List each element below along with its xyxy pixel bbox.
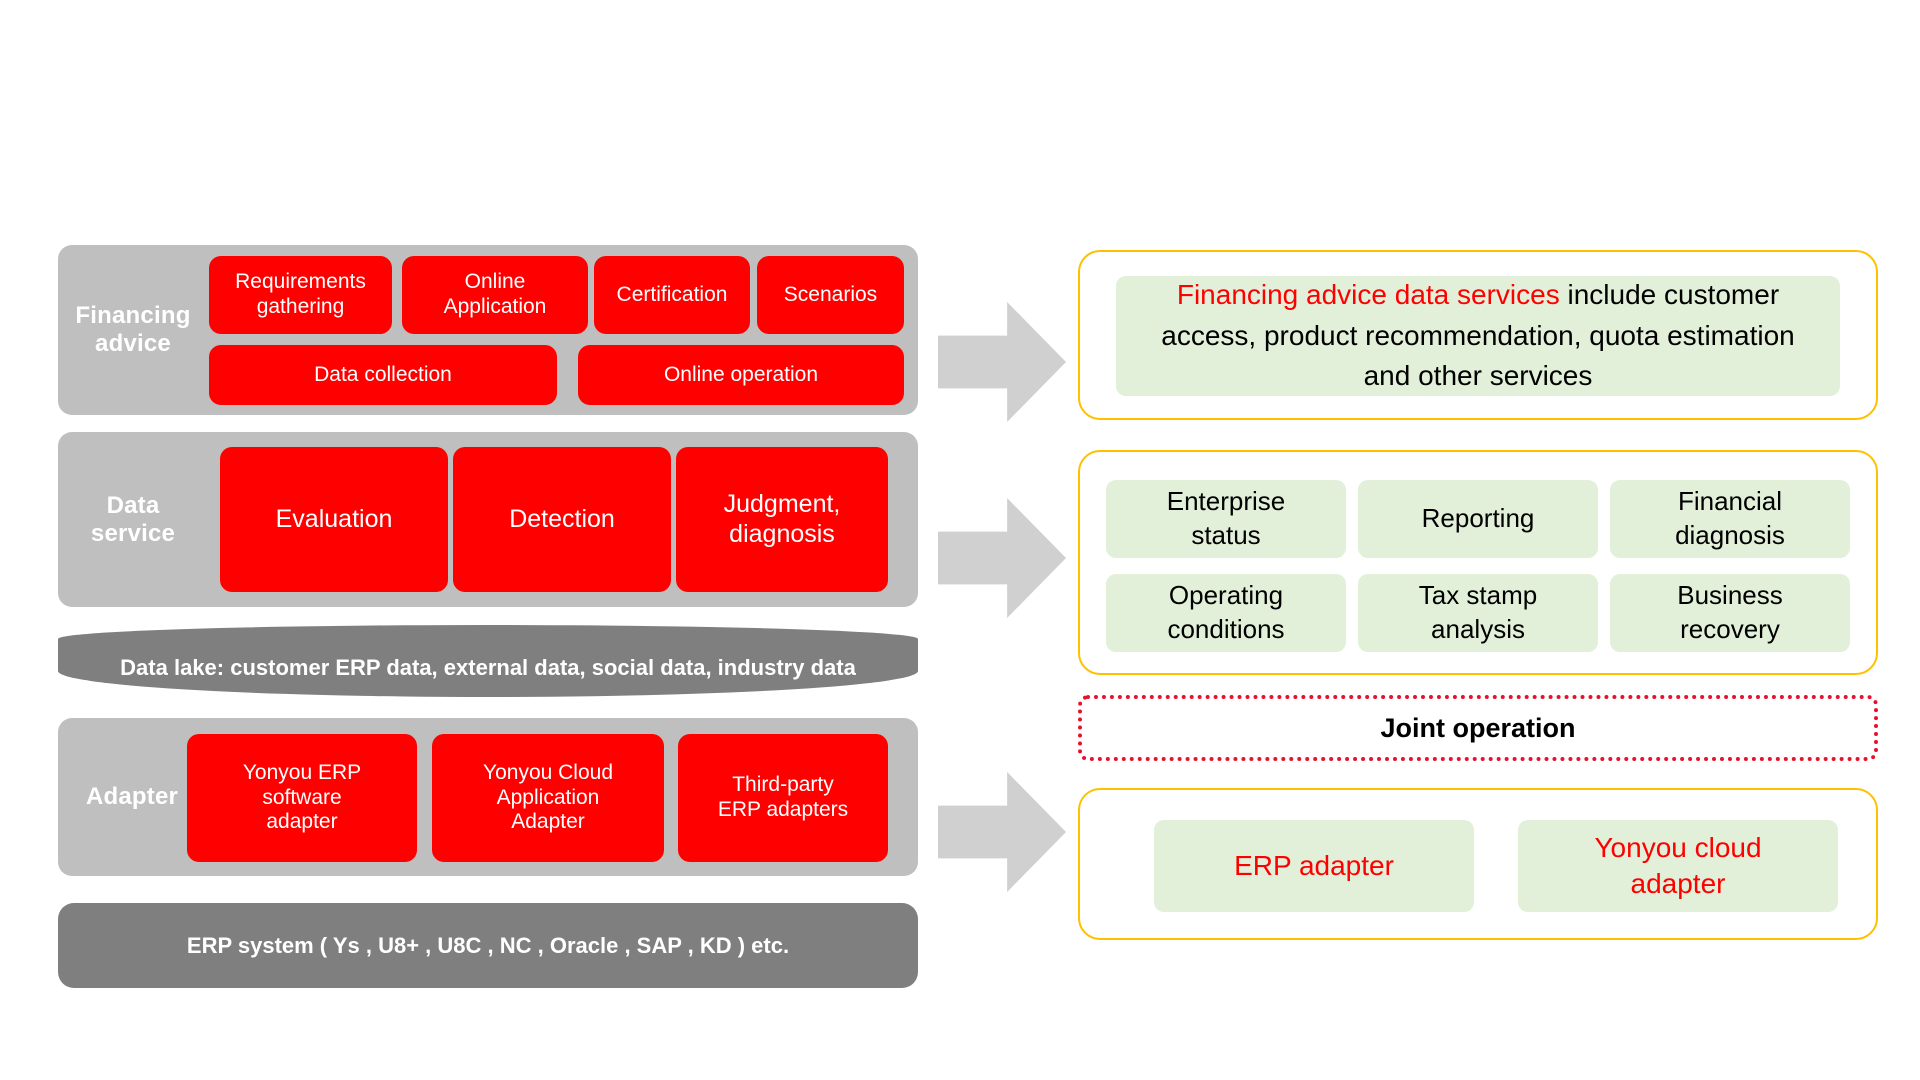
- chip-label-line1: Tax stamp: [1419, 579, 1538, 613]
- box-label-line2: gathering: [257, 295, 345, 320]
- arrow-right-data-service: [938, 498, 1066, 618]
- chip-reporting[interactable]: Reporting: [1358, 480, 1598, 558]
- data-lake-label: Data lake: customer ERP data, external d…: [58, 639, 918, 697]
- chip-label-line1: Business: [1677, 579, 1783, 613]
- box-online-application[interactable]: Online Application: [402, 256, 588, 334]
- box-label-line1: Requirements: [235, 270, 366, 295]
- chip-label-line2: status: [1191, 519, 1260, 553]
- box-label-line1: Yonyou Cloud: [483, 761, 613, 786]
- box-third-party-erp-adapters[interactable]: Third-party ERP adapters: [678, 734, 888, 862]
- box-label-line1: Yonyou ERP: [243, 761, 361, 786]
- row-label-line2: service: [91, 520, 175, 548]
- financing-advice-highlight: Financing advice data services: [1177, 279, 1560, 310]
- chip-label-line1: Financial: [1678, 485, 1782, 519]
- chip-label-line1: Yonyou cloud: [1594, 830, 1761, 866]
- chip-erp-adapter[interactable]: ERP adapter: [1154, 820, 1474, 912]
- row-label-line1: Adapter: [86, 783, 178, 811]
- box-label: Data collection: [314, 363, 452, 388]
- data-lake-shape: Data lake: customer ERP data, external d…: [58, 625, 918, 697]
- erp-system-label: ERP system ( Ys , U8+ , U8C , NC , Oracl…: [187, 933, 789, 959]
- box-yonyou-erp-software-adapter[interactable]: Yonyou ERP software adapter: [187, 734, 417, 862]
- chip-enterprise-status[interactable]: Enterprise status: [1106, 480, 1346, 558]
- chip-label-line1: Reporting: [1422, 502, 1535, 536]
- panel-joint-operation: Joint operation: [1078, 695, 1878, 761]
- chip-label-line1: Enterprise: [1167, 485, 1286, 519]
- arrow-right-financing: [938, 302, 1066, 422]
- box-label-line2: diagnosis: [729, 520, 835, 550]
- box-label-line1: Judgment,: [724, 490, 841, 520]
- box-requirements-gathering[interactable]: Requirements gathering: [209, 256, 392, 334]
- panel-adapters: ERP adapter Yonyou cloud adapter: [1078, 788, 1878, 940]
- box-data-collection[interactable]: Data collection: [209, 345, 557, 405]
- box-label-line1: Detection: [509, 505, 615, 535]
- chip-label-line2: adapter: [1631, 866, 1726, 902]
- chip-tax-stamp-analysis[interactable]: Tax stamp analysis: [1358, 574, 1598, 652]
- box-label-line1: Certification: [617, 283, 728, 308]
- chip-label-line1: ERP adapter: [1234, 848, 1394, 884]
- row-label-line2: advice: [95, 330, 171, 358]
- row-label-line1: Financing: [75, 302, 190, 330]
- chip-label-line2: recovery: [1680, 613, 1780, 647]
- row-adapter-label: Adapter: [62, 767, 202, 827]
- box-online-operation[interactable]: Online operation: [578, 345, 904, 405]
- box-yonyou-cloud-application-adapter[interactable]: Yonyou Cloud Application Adapter: [432, 734, 664, 862]
- chip-label-line2: diagnosis: [1675, 519, 1785, 553]
- box-label-line1: Evaluation: [276, 505, 393, 535]
- erp-system-bar: ERP system ( Ys , U8+ , U8C , NC , Oracl…: [58, 903, 918, 988]
- row-financing-advice-label: Financing advice: [62, 280, 204, 380]
- panel-data-services: Enterprise status Reporting Financial di…: [1078, 450, 1878, 675]
- financing-advice-description-text: Financing advice data services include c…: [1142, 275, 1814, 397]
- box-label-line3: Adapter: [511, 810, 585, 835]
- box-label-line2: Application: [444, 295, 547, 320]
- box-label-line1: Third-party: [732, 773, 834, 798]
- box-label-line2: Application: [497, 786, 600, 811]
- chip-label-line2: analysis: [1431, 613, 1525, 647]
- box-judgment-diagnosis[interactable]: Judgment, diagnosis: [676, 447, 888, 592]
- financing-advice-description: Financing advice data services include c…: [1116, 276, 1840, 396]
- box-scenarios[interactable]: Scenarios: [757, 256, 904, 334]
- box-label: Online operation: [664, 363, 818, 388]
- box-label-line1: Scenarios: [784, 283, 877, 308]
- chip-operating-conditions[interactable]: Operating conditions: [1106, 574, 1346, 652]
- row-data-service-label: Data service: [62, 470, 204, 570]
- chip-label-line1: Operating: [1169, 579, 1283, 613]
- box-certification[interactable]: Certification: [594, 256, 750, 334]
- panel-financing-advice-services: Financing advice data services include c…: [1078, 250, 1878, 420]
- box-label-line2: ERP adapters: [718, 798, 848, 823]
- joint-operation-label: Joint operation: [1381, 713, 1576, 744]
- box-label-line2: software: [262, 786, 341, 811]
- box-label-line1: Online: [465, 270, 526, 295]
- diagram-canvas: Financing advice Requirements gathering …: [0, 0, 1920, 1080]
- chip-financial-diagnosis[interactable]: Financial diagnosis: [1610, 480, 1850, 558]
- box-detection[interactable]: Detection: [453, 447, 671, 592]
- chip-yonyou-cloud-adapter[interactable]: Yonyou cloud adapter: [1518, 820, 1838, 912]
- arrow-right-adapter: [938, 772, 1066, 892]
- box-evaluation[interactable]: Evaluation: [220, 447, 448, 592]
- chip-business-recovery[interactable]: Business recovery: [1610, 574, 1850, 652]
- chip-label-line2: conditions: [1167, 613, 1284, 647]
- row-label-line1: Data: [107, 492, 160, 520]
- box-label-line3: adapter: [266, 810, 337, 835]
